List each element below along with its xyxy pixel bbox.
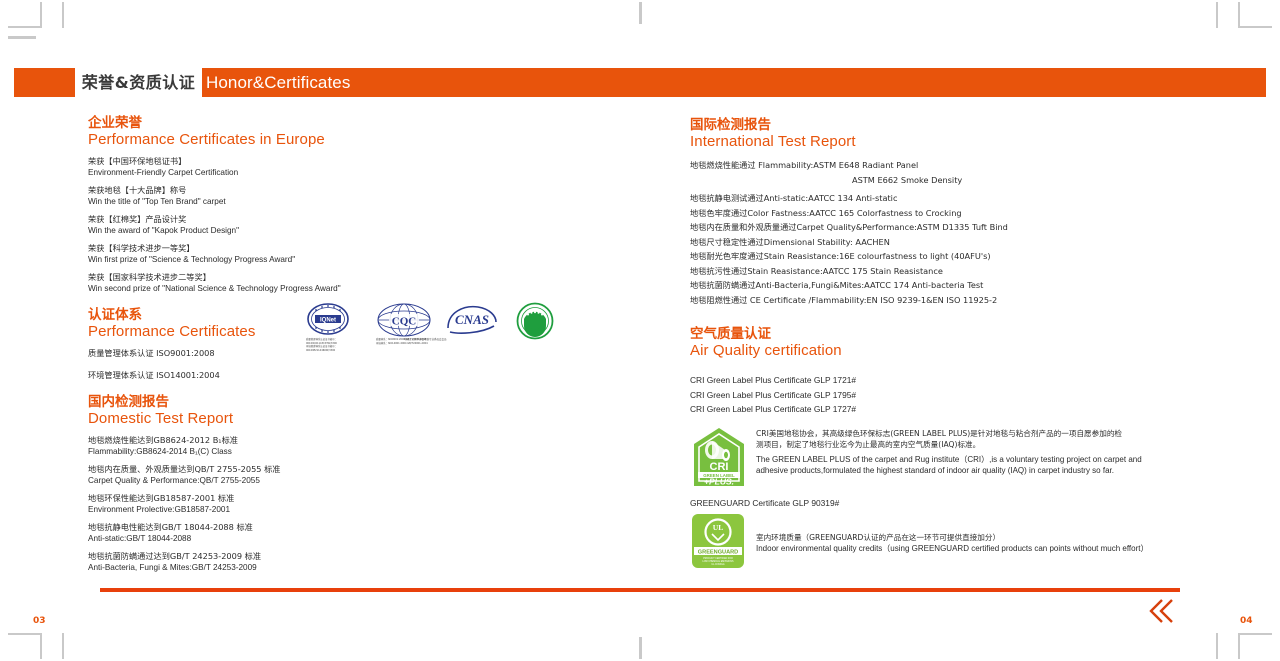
- honor-entry: 荣获地毯【十大品牌】称号 Win the title of "Top Ten B…: [88, 185, 648, 207]
- section-international-test-report: 国际检测报告 International Test Report 地毯燃烧性能通…: [690, 118, 1260, 307]
- domestic-entry: 地毯抗菌防螨通过达到GB/T 24253-2009 标准 Anti-Bacter…: [88, 551, 648, 573]
- svg-text:UL.COM/GG: UL.COM/GG: [711, 564, 724, 566]
- svg-text:LOW CHEMICAL EMISSIONS: LOW CHEMICAL EMISSIONS: [702, 560, 734, 563]
- cri-logo-text-top: CRI: [710, 461, 729, 473]
- honor-entry-en: Win the title of "Top Ten Brand" carpet: [88, 196, 648, 207]
- domestic-entry-cn: 地毯燃烧性能达到GB8624-2012 B₁标准: [88, 435, 648, 446]
- domestic-entry-cn: 地毯抗菌防螨通过达到GB/T 24253-2009 标准: [88, 551, 648, 562]
- section-cn-heading: 国际检测报告: [690, 118, 1260, 133]
- honor-entry-en: Win second prize of "National Science & …: [88, 283, 648, 294]
- crop-mark-top-left-h2: [8, 36, 36, 39]
- honor-entry: 荣获【红棉奖】产品设计奖 Win the award of "Kapok Pro…: [88, 214, 648, 236]
- cqc-logo: CQC 质量体系：ISO9001:2008 GB/T19001-2008 环境体…: [376, 302, 432, 343]
- intl-entry: 地毯耐光色牢度通过Stain Reasistance:16E colourfas…: [690, 249, 1260, 264]
- crop-mark-bottom-right-v: [1238, 633, 1240, 659]
- honor-entry-en: Win first prize of "Science & Technology…: [88, 254, 648, 265]
- svg-text:PRODUCT CERTIFIED FOR: PRODUCT CERTIFIED FOR: [703, 558, 733, 560]
- greenguard-heading: GREENGUARD Certificate GLP 90319#: [690, 496, 1260, 510]
- svg-text:IQNet: IQNet: [320, 317, 336, 323]
- header-cn-title-block: 荣誉&资质认证: [75, 68, 202, 97]
- crop-mark-top-left-v2: [62, 2, 64, 28]
- crop-mark-bottom-left-v: [40, 633, 42, 659]
- header-cn-title: 荣誉&资质认证: [82, 75, 195, 91]
- cri-description-cn-line2: 测项目，制定了地毯行业迄今为止最高的室内空气质量(IAQ)标准。: [756, 439, 1236, 450]
- intl-entry: 地毯抗污性通过Stain Reasistance:AATCC 175 Stain…: [690, 264, 1260, 279]
- right-column: 国际检测报告 International Test Report 地毯燃烧性能通…: [690, 118, 1260, 570]
- section-cn-heading: 企业荣誉: [88, 116, 648, 131]
- domestic-entry: 地毯燃烧性能达到GB8624-2012 B₁标准 Flammability:GB…: [88, 435, 648, 457]
- cri-block: CRI GREEN LABEL +PLUS. CRI美国地毯协会，其高级绿色环保…: [690, 426, 1260, 490]
- section-cn-heading: 空气质量认证: [690, 327, 1260, 342]
- intl-entry: 地毯色牢度通过Color Fastness:AATCC 165 Colorfas…: [690, 206, 1260, 221]
- cqc-icon: CQC: [376, 302, 432, 338]
- domestic-entry-en: Anti-Bacteria, Fungi & Mites:GB/T 24253-…: [88, 562, 648, 573]
- crop-mark-top-right: [1238, 26, 1272, 28]
- crop-mark-bottom-center: [639, 637, 642, 659]
- section-corporate-honors: 企业荣誉 Performance Certificates in Europe …: [88, 116, 648, 294]
- iqnet-logo: IQNet 质量管理体系认证证书编号：00109Q21143153W/3300 …: [306, 302, 350, 341]
- domestic-entry-en: Environment Prolective:GB18587-2001: [88, 504, 648, 515]
- crop-mark-bottom-left: [8, 633, 42, 635]
- crop-mark-top-right-v2: [1216, 2, 1218, 28]
- section-en-heading: Air Quality certification: [690, 342, 1260, 360]
- domestic-entry: 地毯环保性能达到GB18587-2001 标准 Environment Prol…: [88, 493, 648, 515]
- cnas-icon: CNAS: [444, 302, 500, 336]
- honor-entry-cn: 荣获【中国环保地毯证书】: [88, 156, 648, 167]
- domestic-entry: 地毯抗静电性能达到GB/T 18044-2088 标准 Anti-static:…: [88, 522, 648, 544]
- svg-text:CNAS: CNAS: [455, 312, 489, 327]
- section-en-heading: International Test Report: [690, 133, 1260, 151]
- crop-mark-bottom-right: [1238, 633, 1272, 635]
- cnas-logo: CNAS: [444, 302, 500, 341]
- domestic-entry: 地毯内在质量、外观质量达到QB/T 2755-2055 标准 Carpet Qu…: [88, 464, 648, 486]
- crop-mark-top-right-v: [1238, 2, 1240, 28]
- double-chevron-left-icon[interactable]: [1144, 594, 1178, 628]
- cri-logo-icon: CRI GREEN LABEL +PLUS.: [692, 426, 746, 488]
- domestic-entry-en: Carpet Quality & Performance:QB/T 2755-2…: [88, 475, 648, 486]
- crop-mark-top-center: [639, 2, 642, 24]
- greenguard-logo-icon: UL GREENGUARD PRODUCT CERTIFIED FOR LOW …: [692, 514, 744, 568]
- crop-mark-bottom-left-v2: [62, 633, 64, 659]
- green-seal-icon: [516, 302, 554, 340]
- green-seal-caption: 中国工艺美术协会地毯专业委员会会员: [404, 338, 447, 341]
- greenguard-description-cn: 室内环境质量（GREENGUARD认证的产品在这一环节可提供直接加分）: [756, 532, 1256, 543]
- honor-entry-cn: 荣获【国家科学技术进步二等奖】: [88, 272, 648, 283]
- crop-mark-top-left: [8, 26, 42, 28]
- intl-entry: 地毯尺寸稳定性通过Dimensional Stability: AACHEN: [690, 235, 1260, 250]
- cri-description-cn-line1: CRI美国地毯协会，其高级绿色环保标志(GREEN LABEL PLUS)是针对…: [756, 428, 1236, 439]
- page-number-left: 03: [33, 616, 46, 626]
- honor-entry: 荣获【中国环保地毯证书】 Environment-Friendly Carpet…: [88, 156, 648, 178]
- section-cn-heading: 国内检测报告: [88, 395, 648, 410]
- greenguard-logo-text: GREENGUARD: [698, 549, 738, 555]
- greenguard-logo: UL GREENGUARD PRODUCT CERTIFIED FOR LOW …: [692, 514, 744, 573]
- section-domestic-test-report: 国内检测报告 Domestic Test Report 地毯燃烧性能达到GB86…: [88, 395, 648, 573]
- honor-entry-en: Environment-Friendly Carpet Certificatio…: [88, 167, 648, 178]
- greenguard-description: 室内环境质量（GREENGUARD认证的产品在这一环节可提供直接加分） Indo…: [756, 532, 1256, 555]
- honor-entry-cn: 荣获【科学技术进步一等奖】: [88, 243, 648, 254]
- intl-entry: 地毯抗菌防螨通过Anti-Bacteria,Fungi&Mites:AATCC …: [690, 278, 1260, 293]
- china-environmental-labelling-logo: 中国工艺美术协会地毯专业委员会会员: [516, 302, 554, 345]
- footer-rule: [100, 588, 1180, 592]
- glp-certificate-line: CRI Green Label Plus Certificate GLP 172…: [690, 402, 1260, 417]
- certification-entry: 环境管理体系认证 ISO14001:2004: [88, 370, 648, 381]
- domestic-entry-cn: 地毯抗静电性能达到GB/T 18044-2088 标准: [88, 522, 648, 533]
- intl-entry: 地毯燃烧性能通过 Flammability:ASTM E648 Radiant …: [690, 158, 1260, 173]
- crop-mark-bottom-right-v2: [1216, 633, 1218, 659]
- glp-certificate-line: CRI Green Label Plus Certificate GLP 179…: [690, 388, 1260, 403]
- section-en-heading: Domestic Test Report: [88, 410, 648, 428]
- section-en-heading: Performance Certificates in Europe: [88, 131, 648, 149]
- intl-entry: 地毯阻燃性通过 CE Certificate /Flammability:EN …: [690, 293, 1260, 308]
- page-number-right: 04: [1240, 616, 1253, 626]
- cri-description-en-line1: The GREEN LABEL PLUS of the carpet and R…: [756, 454, 1236, 466]
- brochure-page: 荣誉&资质认证 Honor&Certificates 企业荣誉 Performa…: [0, 0, 1280, 661]
- honor-entry: 荣获【国家科学技术进步二等奖】 Win second prize of "Nat…: [88, 272, 648, 294]
- cri-description: CRI美国地毯协会，其高级绿色环保标志(GREEN LABEL PLUS)是针对…: [756, 428, 1236, 477]
- greenguard-block: UL GREENGUARD PRODUCT CERTIFIED FOR LOW …: [690, 514, 1260, 570]
- intl-entry-sub: ASTM E662 Smoke Density: [690, 173, 1260, 188]
- crop-mark-top-left-v: [40, 2, 42, 28]
- cri-green-label-plus-logo: CRI GREEN LABEL +PLUS.: [692, 426, 746, 493]
- cri-description-en-line2: adhesive products,formulated the highest…: [756, 465, 1236, 477]
- glp-certificate-line: CRI Green Label Plus Certificate GLP 172…: [690, 373, 1260, 388]
- domestic-entry-en: Anti-static:GB/T 18044-2088: [88, 533, 648, 544]
- svg-text:UL: UL: [713, 523, 723, 532]
- cri-logo-text-bot: +PLUS.: [704, 476, 734, 486]
- honor-entry: 荣获【科学技术进步一等奖】 Win first prize of "Scienc…: [88, 243, 648, 265]
- svg-text:CQC: CQC: [392, 316, 417, 328]
- honor-entry-en: Win the award of "Kapok Product Design": [88, 225, 648, 236]
- honor-entry-cn: 荣获地毯【十大品牌】称号: [88, 185, 648, 196]
- header-en-title: Honor&Certificates: [206, 68, 350, 97]
- greenguard-description-en: Indoor environmental quality credits（usi…: [756, 543, 1256, 555]
- domestic-entry-en: Flammability:GB8624-2014 B₁(C) Class: [88, 446, 648, 457]
- domestic-entry-cn: 地毯环保性能达到GB18587-2001 标准: [88, 493, 648, 504]
- iqnet-logo-caption: 质量管理体系认证证书编号：00109Q21143153W/3300 环境管理体系…: [306, 338, 350, 352]
- certification-logos-row: IQNet 质量管理体系认证证书编号：00109Q21143153W/3300 …: [306, 302, 578, 358]
- intl-entry: 地毯抗静电测试通过Anti-static:AATCC 134 Anti-stat…: [690, 191, 1260, 206]
- honor-entry-cn: 荣获【红棉奖】产品设计奖: [88, 214, 648, 225]
- iqnet-icon: IQNet: [306, 302, 350, 336]
- domestic-entry-cn: 地毯内在质量、外观质量达到QB/T 2755-2055 标准: [88, 464, 648, 475]
- intl-entry: 地毯内在质量和外观质量通过Carpet Quality&Performance:…: [690, 220, 1260, 235]
- section-air-quality-certification: 空气质量认证 Air Quality certification CRI Gre…: [690, 327, 1260, 570]
